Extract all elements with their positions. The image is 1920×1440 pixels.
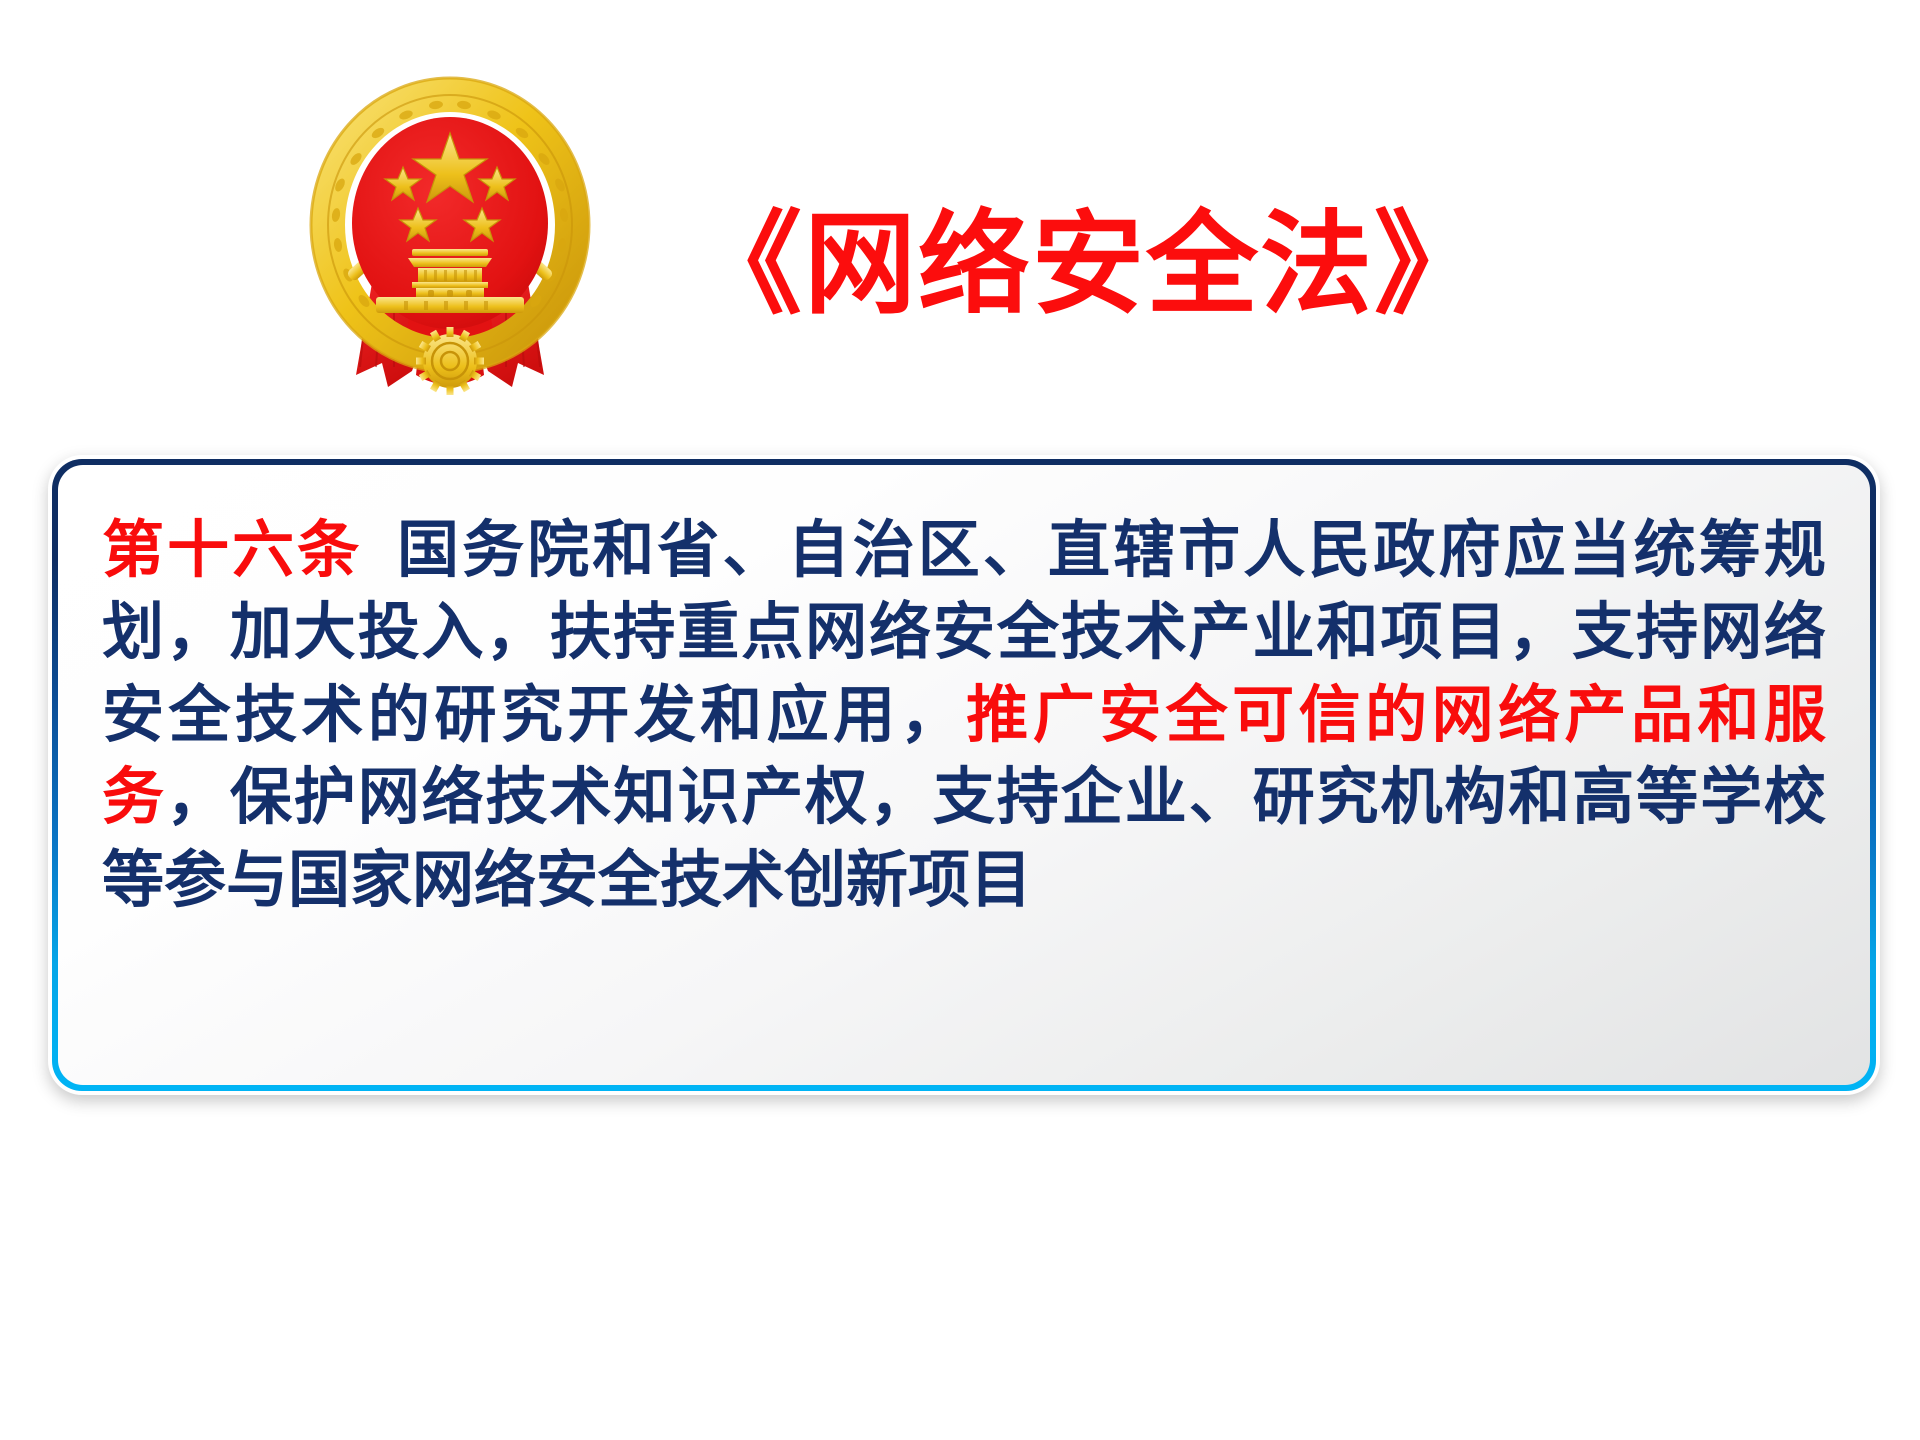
page-header: 《网络安全法》 — [0, 0, 1920, 430]
article-body-part-2: ，保护网络技术知识产权，支持企业、研究机构和高等学校等参与国家网络安全技术创新项… — [102, 760, 1826, 915]
law-article-text: 第十六条 国务院和省、自治区、直辖市人民政府应当统筹规划，加大投入，扶持重点网络… — [102, 509, 1826, 921]
law-text-box: 第十六条 国务院和省、自治区、直辖市人民政府应当统筹规划，加大投入，扶持重点网络… — [52, 459, 1876, 1091]
page-title: 《网络安全法》 — [690, 205, 1488, 326]
china-national-emblem-icon — [300, 75, 600, 395]
law-text-box-inner: 第十六条 国务院和省、自治区、直辖市人民政府应当统筹规划，加大投入，扶持重点网络… — [58, 465, 1870, 1085]
china-national-emblem — [300, 75, 600, 395]
article-number: 第十六条 — [102, 513, 362, 586]
